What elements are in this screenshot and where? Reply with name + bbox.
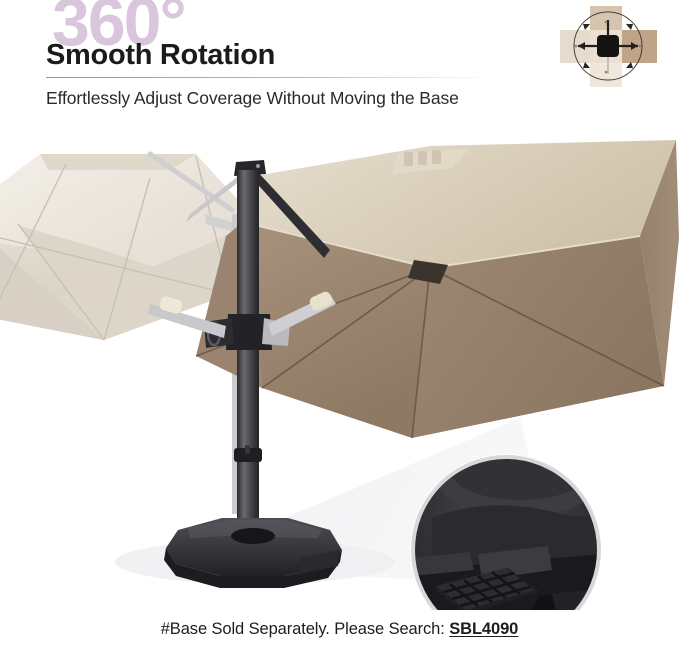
collar-knob	[245, 445, 250, 454]
page-title: Smooth Rotation	[46, 40, 275, 70]
umbrella-base	[164, 518, 342, 588]
footer-note: #Base Sold Separately. Please Search: SB…	[0, 620, 679, 639]
rotation-diagram-icon	[552, 4, 670, 88]
title-divider	[46, 77, 491, 78]
canopy-under-right	[412, 236, 664, 438]
canopy-top-fittings	[404, 150, 441, 166]
footer-sku: SBL4090	[449, 620, 518, 638]
mast-cap-bolt	[256, 164, 260, 168]
page-subtitle: Effortlessly Adjust Coverage Without Mov…	[46, 88, 459, 109]
base-pole-socket	[231, 528, 275, 544]
icon-center-hub	[597, 35, 619, 57]
mast-pole	[237, 170, 259, 570]
footer-note-text: #Base Sold Separately. Please Search:	[161, 620, 450, 638]
product-feature-banner: 360° Smooth Rotation Effortlessly Adjust…	[0, 0, 679, 651]
umbrella-illustration	[0, 118, 679, 610]
